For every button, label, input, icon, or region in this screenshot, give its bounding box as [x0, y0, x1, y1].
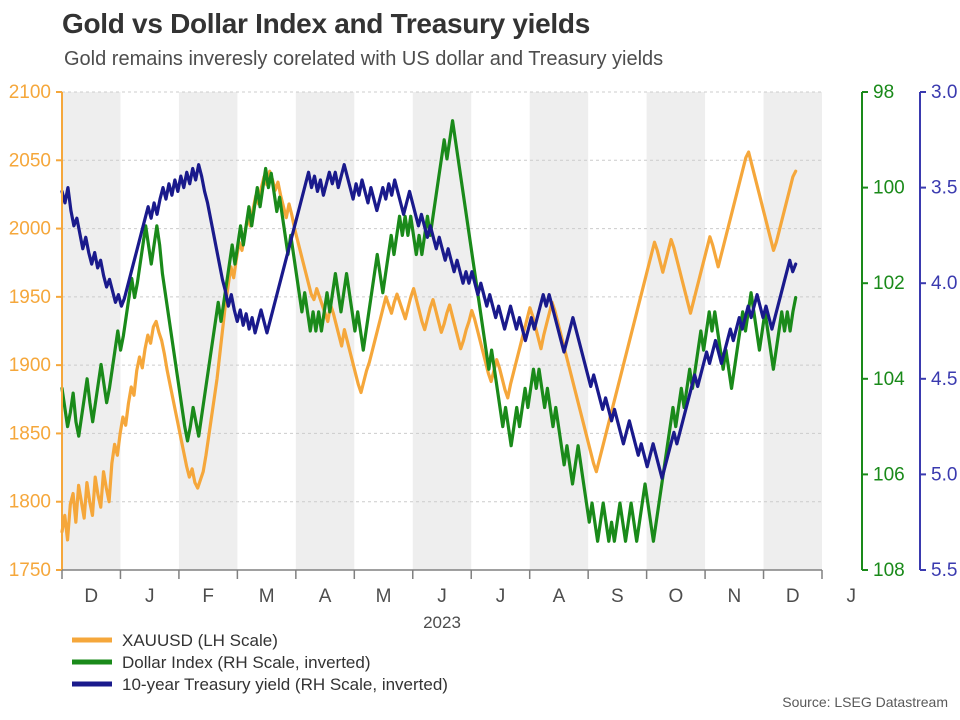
legend-treasury-yield-label: 10-year Treasury yield (RH Scale, invert…: [122, 675, 448, 694]
blue-axis-label: 4.0: [931, 273, 957, 294]
chart-svg: 21002050200019501900185018001750DJFMAMJJ…: [0, 0, 960, 720]
x-axis-label: F: [202, 586, 214, 607]
blue-axis-label: 3.5: [931, 178, 957, 199]
green-axis-label: 102: [873, 273, 905, 294]
green-axis-label: 106: [873, 464, 905, 485]
left-axis-label: 1800: [9, 492, 51, 513]
left-axis-label: 1950: [9, 287, 51, 308]
month-band: [179, 92, 237, 570]
left-axis-label: 1900: [9, 355, 51, 376]
month-band: [647, 92, 705, 570]
x-axis-label: N: [727, 586, 741, 607]
green-axis-label: 100: [873, 178, 905, 199]
left-axis-label: 2050: [9, 150, 51, 171]
green-axis-label: 98: [873, 82, 894, 103]
x-axis-label: O: [668, 586, 683, 607]
x-axis-label: J: [496, 586, 506, 607]
month-band: [764, 92, 822, 570]
blue-axis-label: 5.0: [931, 464, 957, 485]
x-axis-label: A: [319, 586, 332, 607]
left-axis-label: 2000: [9, 219, 51, 240]
x-axis-label: J: [145, 586, 155, 607]
left-axis-label: 1750: [9, 560, 51, 581]
left-axis-label: 2100: [9, 82, 51, 103]
x-axis-label: A: [553, 586, 566, 607]
legend-xauusd-label: XAUUSD (LH Scale): [122, 631, 278, 650]
x-axis-year-label: 2023: [423, 613, 461, 632]
x-axis-label: D: [84, 586, 98, 607]
blue-axis-label: 5.5: [931, 560, 957, 581]
green-axis-label: 104: [873, 369, 905, 390]
x-axis-label: J: [437, 586, 447, 607]
x-axis-label: M: [259, 586, 275, 607]
legend: XAUUSD (LH Scale)Dollar Index (RH Scale,…: [72, 631, 448, 694]
source-attribution: Source: LSEG Datastream: [782, 694, 948, 710]
x-axis-label: D: [786, 586, 800, 607]
green-axis-label: 108: [873, 560, 905, 581]
x-axis-label: M: [376, 586, 392, 607]
legend-dollar-index-label: Dollar Index (RH Scale, inverted): [122, 653, 370, 672]
left-axis-label: 1850: [9, 423, 51, 444]
blue-axis-label: 4.5: [931, 369, 957, 390]
blue-axis-label: 3.0: [931, 82, 957, 103]
x-axis-label: J: [846, 586, 856, 607]
chart-container: Gold vs Dollar Index and Treasury yields…: [0, 0, 960, 720]
x-axis-label: S: [611, 586, 624, 607]
